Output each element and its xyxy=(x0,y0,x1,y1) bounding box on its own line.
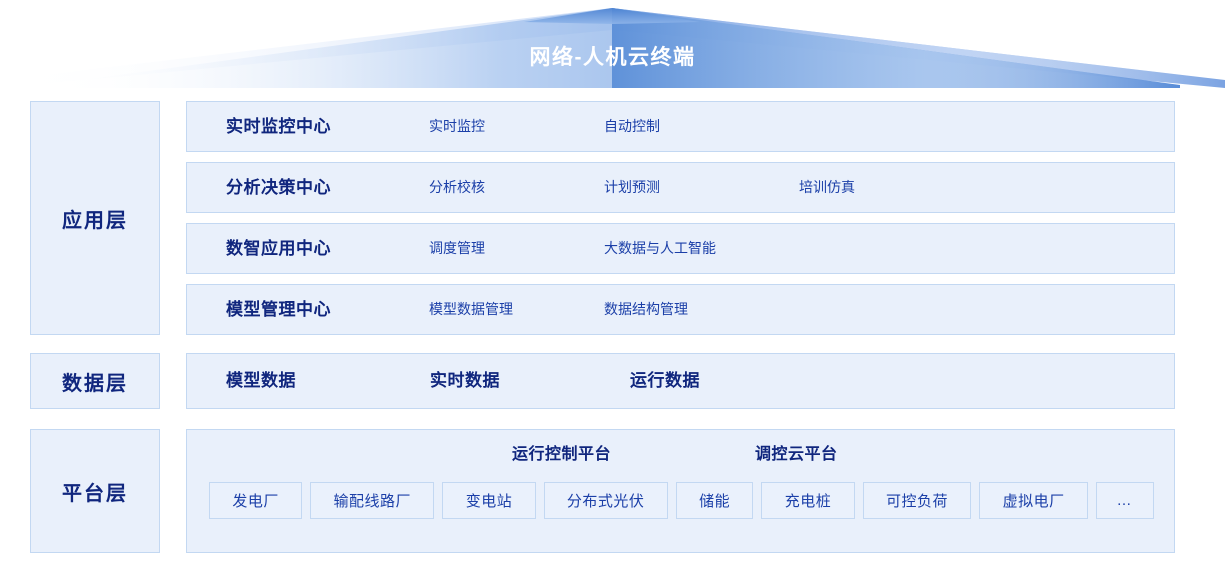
row-item[interactable]: 分析校核 xyxy=(429,163,485,212)
row-item[interactable]: 计划预测 xyxy=(604,163,660,212)
platform-heading[interactable]: 调控云平台 xyxy=(755,438,838,472)
row-title: 模型管理中心 xyxy=(226,285,331,334)
data-item[interactable]: 实时数据 xyxy=(430,354,500,408)
resource-chip[interactable]: 储能 xyxy=(676,482,754,519)
row-title: 实时监控中心 xyxy=(226,102,331,151)
platform-headings: 运行控制平台 调控云平台 xyxy=(187,438,1176,472)
row-item[interactable]: 自动控制 xyxy=(604,102,660,151)
platform-heading[interactable]: 运行控制平台 xyxy=(512,438,611,472)
data-item[interactable]: 模型数据 xyxy=(226,354,296,408)
row-title: 分析决策中心 xyxy=(226,163,331,212)
page-title: 网络-人机云终端 xyxy=(0,41,1225,71)
row-title: 数智应用中心 xyxy=(226,224,331,273)
application-row[interactable]: 实时监控中心 实时监控 自动控制 xyxy=(186,101,1175,152)
application-row[interactable]: 数智应用中心 调度管理 大数据与人工智能 xyxy=(186,223,1175,274)
resource-chip[interactable]: 充电桩 xyxy=(761,482,854,519)
row-item[interactable]: 调度管理 xyxy=(429,224,485,273)
resource-chip[interactable]: 可控负荷 xyxy=(863,482,972,519)
data-layer-band: 模型数据 实时数据 运行数据 xyxy=(186,353,1175,409)
application-row[interactable]: 模型管理中心 模型数据管理 数据结构管理 xyxy=(186,284,1175,335)
row-item[interactable]: 实时监控 xyxy=(429,102,485,151)
data-item[interactable]: 运行数据 xyxy=(630,354,700,408)
layer-label-application: 应用层 xyxy=(30,101,160,335)
layer-label-data: 数据层 xyxy=(30,353,160,409)
row-item[interactable]: 大数据与人工智能 xyxy=(604,224,716,273)
layer-label-platform: 平台层 xyxy=(30,429,160,553)
platform-layer-band: 运行控制平台 调控云平台 发电厂 输配线路厂 变电站 分布式光伏 储能 充电桩 … xyxy=(186,429,1175,553)
row-item[interactable]: 数据结构管理 xyxy=(604,285,688,334)
application-row[interactable]: 分析决策中心 分析校核 计划预测 培训仿真 xyxy=(186,162,1175,213)
resource-chip[interactable]: 发电厂 xyxy=(209,482,302,519)
roof-header: 网络-人机云终端 xyxy=(0,0,1225,88)
resource-chip[interactable]: 变电站 xyxy=(442,482,535,519)
architecture-diagram: 应用层 数据层 平台层 实时监控中心 实时监控 自动控制 分析决策中心 分析校核… xyxy=(0,88,1225,583)
resource-chip[interactable]: 输配线路厂 xyxy=(310,482,434,519)
row-item[interactable]: 模型数据管理 xyxy=(429,285,513,334)
resource-chip[interactable]: 虚拟电厂 xyxy=(979,482,1088,519)
resource-chip[interactable]: 分布式光伏 xyxy=(544,482,668,519)
resource-chip-more[interactable]: … xyxy=(1096,482,1154,519)
row-item[interactable]: 培训仿真 xyxy=(799,163,855,212)
application-layer-rows: 实时监控中心 实时监控 自动控制 分析决策中心 分析校核 计划预测 培训仿真 数… xyxy=(186,101,1175,335)
resource-chip-row: 发电厂 输配线路厂 变电站 分布式光伏 储能 充电桩 可控负荷 虚拟电厂 … xyxy=(209,482,1154,519)
